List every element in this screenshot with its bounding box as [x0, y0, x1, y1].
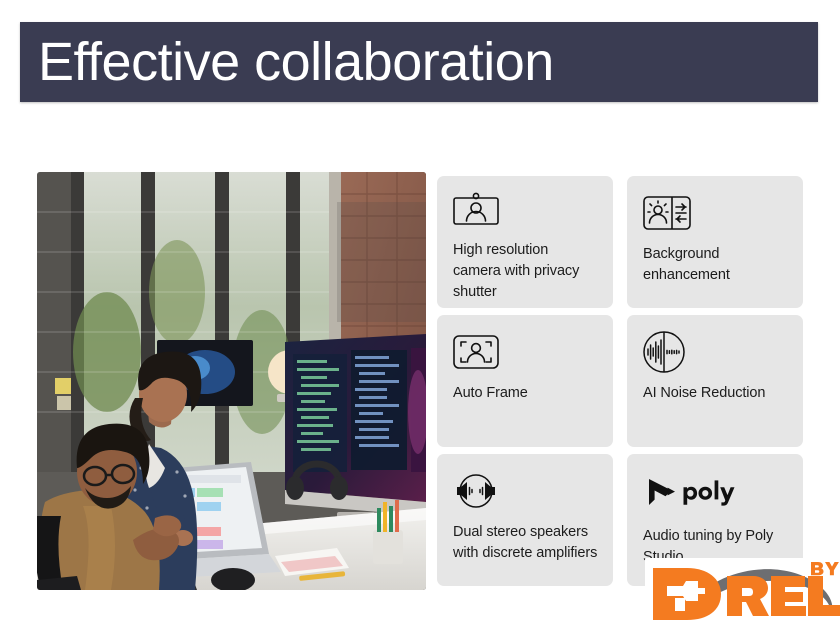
office-collaboration-photo: [37, 172, 426, 590]
feature-card-background-enhancement[interactable]: Background enhancement: [627, 176, 803, 308]
feature-label: Auto Frame: [453, 383, 528, 404]
background-enhancement-icon: [643, 192, 691, 234]
slide-root: Effective collaboration: [0, 0, 840, 627]
dual-stereo-speakers-icon: [453, 470, 499, 512]
poly-logo-icon: [643, 470, 751, 514]
photo-illustration: [37, 172, 426, 590]
feature-card-high-resolution-camera[interactable]: High resolution camera with privacy shut…: [437, 176, 613, 308]
feature-card-auto-frame[interactable]: Auto Frame: [437, 315, 613, 447]
feature-label: Background enhancement: [643, 244, 789, 286]
feature-label: Dual stereo speakers with discrete ampli…: [453, 522, 599, 564]
feature-card-grid: High resolution camera with privacy shut…: [437, 176, 803, 586]
feature-card-ai-noise-reduction[interactable]: AI Noise Reduction: [627, 315, 803, 447]
auto-frame-icon: [453, 331, 499, 373]
page-title: Effective collaboration: [20, 33, 554, 91]
ai-noise-reduction-icon: [643, 331, 685, 373]
feature-card-dual-stereo-speakers[interactable]: Dual stereo speakers with discrete ampli…: [437, 454, 613, 586]
header-banner: Effective collaboration: [20, 22, 818, 102]
feature-label: AI Noise Reduction: [643, 383, 765, 404]
dreli-watermark: [645, 558, 840, 627]
feature-label: High resolution camera with privacy shut…: [453, 240, 599, 303]
dreli-logo-icon: [645, 558, 840, 627]
camera-privacy-shutter-icon: [453, 192, 499, 230]
